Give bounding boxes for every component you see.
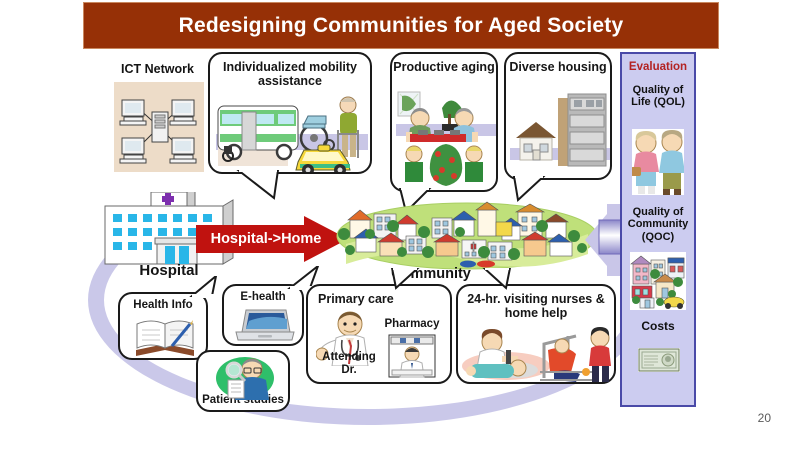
callout-productive-aging[interactable]: Productive aging — [390, 52, 498, 192]
callout-diverse-housing-label: Diverse housing — [506, 60, 610, 74]
community-label: Community — [366, 266, 496, 282]
banknote-icon — [638, 348, 680, 372]
callout-productive-aging-label: Productive aging — [392, 60, 496, 74]
laptop-icon — [234, 308, 296, 344]
town-icon — [630, 252, 686, 310]
evaluation-title: Evaluation — [622, 61, 694, 73]
callout-ehealth[interactable]: E-health — [222, 284, 304, 346]
callout-diverse-housing[interactable]: Diverse housing — [504, 52, 612, 180]
book-icon — [134, 316, 196, 358]
community-illustration — [336, 196, 598, 272]
pharmacy-icon — [388, 334, 436, 378]
callout-mobility-assistance[interactable]: Individualized mobility assistance — [208, 52, 372, 174]
page-number: 20 — [758, 411, 771, 425]
callout-visiting-nurses[interactable]: 24-hr. visiting nurses & home help — [456, 284, 616, 384]
callout-mobility-tail — [236, 170, 280, 200]
callout-attending-dr-label: Attending Dr. — [314, 351, 384, 377]
hospital-to-home-arrow: Hospital->Home — [196, 216, 348, 262]
visiting-nurses-illustration — [462, 324, 614, 382]
callout-ict-network[interactable]: ICT Network — [100, 60, 215, 178]
callout-visiting-nurses-label: 24-hr. visiting nurses & home help — [458, 292, 614, 320]
evaluation-panel[interactable]: Evaluation Quality of Life (QOL) — [620, 52, 696, 407]
evaluation-item-qol-label: Quality of Life (QOL) — [622, 84, 694, 109]
evaluation-item-qoc-label: Quality of Community (QOC) — [622, 206, 694, 243]
diverse-housing-illustration — [510, 88, 610, 178]
mobility-illustration — [216, 94, 368, 172]
callout-primary-care-label: Primary care — [318, 292, 450, 306]
callout-primary-care[interactable]: Primary care Pharmacy — [306, 284, 452, 384]
callout-health-info-label: Health Info — [120, 299, 206, 312]
ict-network-icon — [114, 82, 204, 172]
title-banner: Redesigning Communities for Aged Society — [84, 3, 718, 48]
page-title: Redesigning Communities for Aged Society — [179, 14, 624, 38]
callout-ict-network-label: ICT Network — [100, 62, 215, 76]
evaluation-item-costs-label: Costs — [622, 320, 694, 333]
slide-canvas: Redesigning Communities for Aged Society… — [0, 0, 800, 450]
callout-visiting-nurses-tail — [480, 268, 514, 290]
patient-studies-icon — [214, 356, 276, 400]
productive-aging-illustration — [396, 90, 496, 190]
callout-health-info-tail — [186, 276, 218, 298]
hospital-to-home-label: Hospital->Home — [196, 216, 336, 262]
callout-mobility-label: Individualized mobility assistance — [210, 60, 370, 88]
callout-patient-studies[interactable]: Patient studies — [196, 350, 290, 412]
callout-ehealth-label: E-health — [224, 291, 302, 304]
callout-health-info[interactable]: Health Info — [118, 292, 208, 360]
elderly-couple-icon — [632, 129, 684, 195]
callout-pharmacy-label: Pharmacy — [374, 318, 450, 331]
callout-primary-care-tail — [388, 268, 422, 290]
